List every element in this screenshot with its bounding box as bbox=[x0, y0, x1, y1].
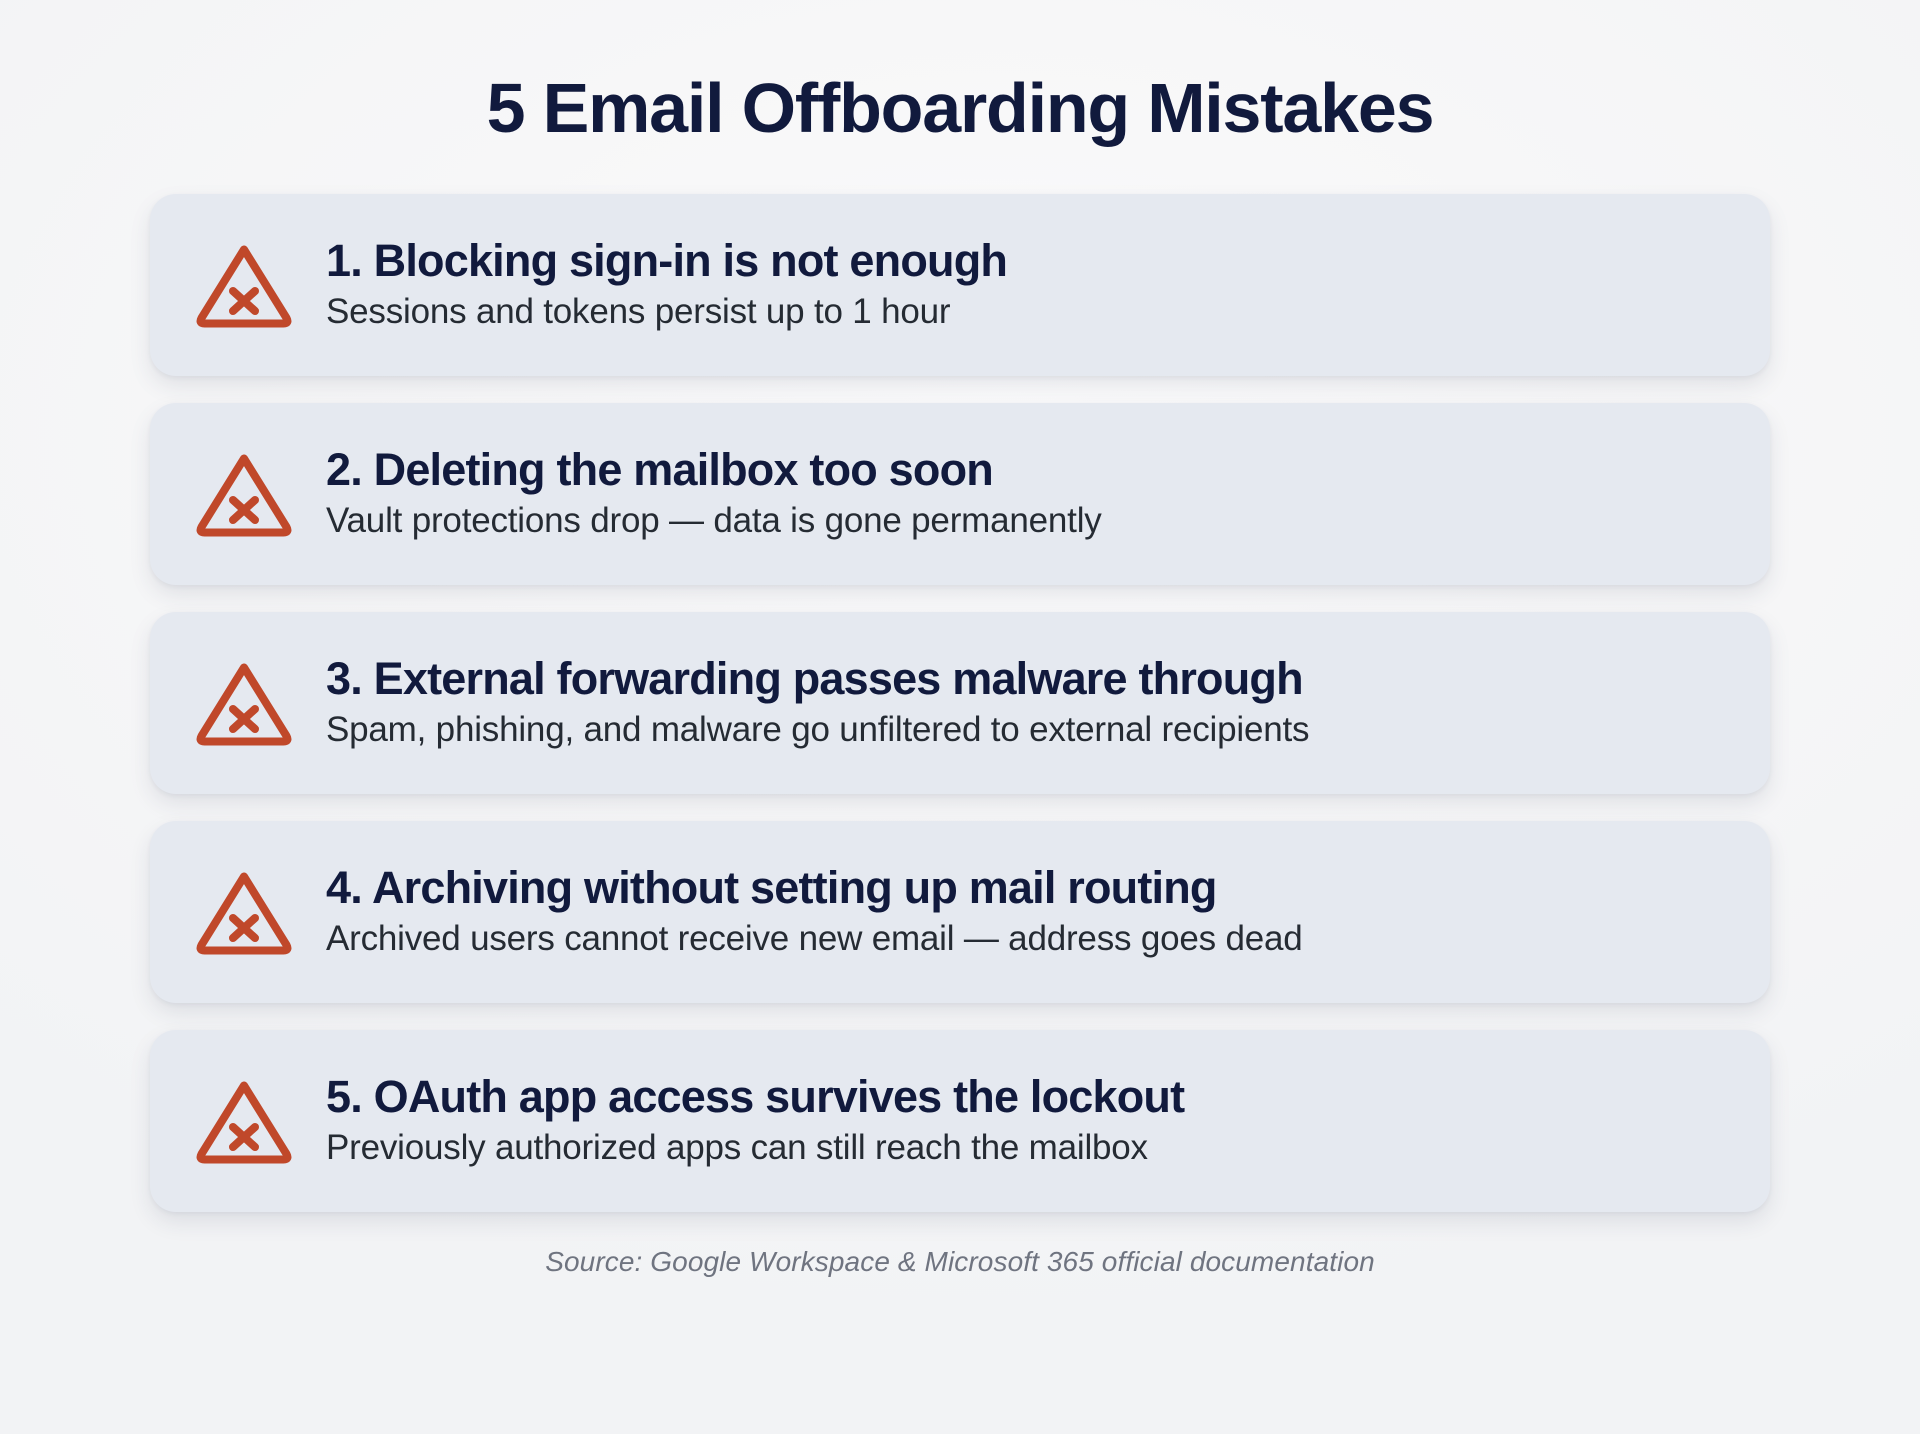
warning-triangle-x-icon bbox=[192, 442, 296, 546]
mistake-card: 4. Archiving without setting up mail rou… bbox=[150, 821, 1770, 1003]
mistake-card-subtitle: Sessions and tokens persist up to 1 hour bbox=[326, 289, 1724, 335]
source-attribution: Source: Google Workspace & Microsoft 365… bbox=[545, 1246, 1375, 1278]
mistake-card-text: 3. External forwarding passes malware th… bbox=[326, 653, 1724, 753]
mistake-card-text: 4. Archiving without setting up mail rou… bbox=[326, 862, 1724, 962]
mistake-card-title: 3. External forwarding passes malware th… bbox=[326, 653, 1724, 705]
mistake-card-subtitle: Archived users cannot receive new email … bbox=[326, 916, 1724, 962]
mistake-card-subtitle: Previously authorized apps can still rea… bbox=[326, 1125, 1724, 1171]
mistake-card: 1. Blocking sign-in is not enough Sessio… bbox=[150, 194, 1770, 376]
warning-triangle-x-icon bbox=[192, 233, 296, 337]
mistake-card-title: 5. OAuth app access survives the lockout bbox=[326, 1071, 1724, 1123]
infographic-canvas: 5 Email Offboarding Mistakes 1. Blocking… bbox=[0, 0, 1920, 1434]
mistake-card-list: 1. Blocking sign-in is not enough Sessio… bbox=[150, 194, 1770, 1212]
warning-triangle-x-icon bbox=[192, 651, 296, 755]
page-title: 5 Email Offboarding Mistakes bbox=[487, 72, 1434, 146]
mistake-card: 5. OAuth app access survives the lockout… bbox=[150, 1030, 1770, 1212]
mistake-card-text: 2. Deleting the mailbox too soon Vault p… bbox=[326, 444, 1724, 544]
mistake-card-subtitle: Spam, phishing, and malware go unfiltere… bbox=[326, 707, 1724, 753]
mistake-card-text: 5. OAuth app access survives the lockout… bbox=[326, 1071, 1724, 1171]
mistake-card: 2. Deleting the mailbox too soon Vault p… bbox=[150, 403, 1770, 585]
mistake-card-title: 2. Deleting the mailbox too soon bbox=[326, 444, 1724, 496]
mistake-card: 3. External forwarding passes malware th… bbox=[150, 612, 1770, 794]
mistake-card-title: 4. Archiving without setting up mail rou… bbox=[326, 862, 1724, 914]
mistake-card-subtitle: Vault protections drop — data is gone pe… bbox=[326, 498, 1724, 544]
warning-triangle-x-icon bbox=[192, 860, 296, 964]
warning-triangle-x-icon bbox=[192, 1069, 296, 1173]
mistake-card-text: 1. Blocking sign-in is not enough Sessio… bbox=[326, 235, 1724, 335]
mistake-card-title: 1. Blocking sign-in is not enough bbox=[326, 235, 1724, 287]
